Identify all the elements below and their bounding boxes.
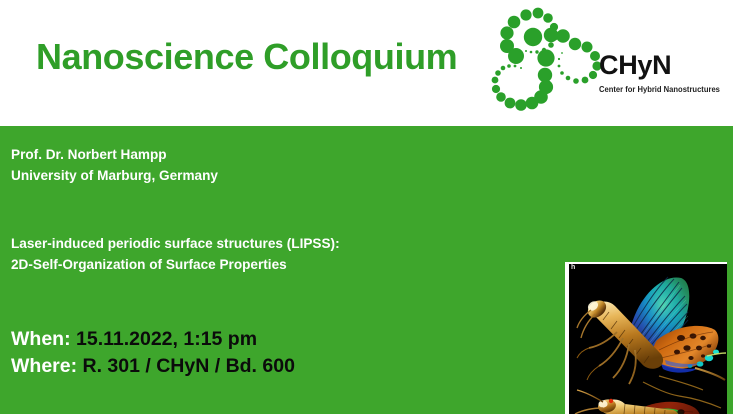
speaker-affiliation: University of Marburg, Germany [11, 166, 551, 187]
talk-title-line-1: Laser-induced periodic surface structure… [11, 234, 551, 255]
speaker-name: Prof. Dr. Norbert Hampp [11, 145, 551, 166]
poster-body: Prof. Dr. Norbert Hampp University of Ma… [0, 126, 733, 414]
where-label: Where: [11, 355, 77, 377]
chyn-acronym: CHyN [599, 52, 733, 79]
poster-header: Nanoscience Colloquium [0, 0, 733, 126]
speaker-block: Prof. Dr. Norbert Hampp University of Ma… [11, 145, 551, 186]
when-row: When: 15.11.2022, 1:15 pm [11, 326, 551, 354]
laser-structured-iridescent-insect-sculpture-photo: h [569, 264, 727, 414]
page-title: Nanoscience Colloquium [36, 38, 457, 76]
chyn-logo: CHyN Center for Hybrid Nanostructures [489, 6, 733, 120]
chyn-subtitle: Center for Hybrid Nanostructures [599, 86, 725, 94]
figure-panel-tag: h [571, 264, 575, 272]
talk-title-line-2: 2D-Self-Organization of Surface Properti… [11, 255, 551, 276]
talk-title-block: Laser-induced periodic surface structure… [11, 234, 551, 275]
where-value: R. 301 / CHyN / Bd. 600 [83, 355, 295, 377]
poster-text-column: Prof. Dr. Norbert Hampp University of Ma… [11, 145, 551, 381]
figure-panel: h [565, 262, 727, 414]
chyn-logo-text: CHyN Center for Hybrid Nanostructures [599, 52, 733, 94]
when-value: 15.11.2022, 1:15 pm [76, 328, 257, 350]
chyn-nanostructure-spiral-dots-icon [489, 6, 609, 118]
colloquium-poster: Nanoscience Colloquium [0, 0, 733, 414]
logistics-block: When: 15.11.2022, 1:15 pm Where: R. 301 … [11, 326, 551, 381]
where-row: Where: R. 301 / CHyN / Bd. 600 [11, 353, 551, 381]
when-label: When: [11, 328, 71, 350]
